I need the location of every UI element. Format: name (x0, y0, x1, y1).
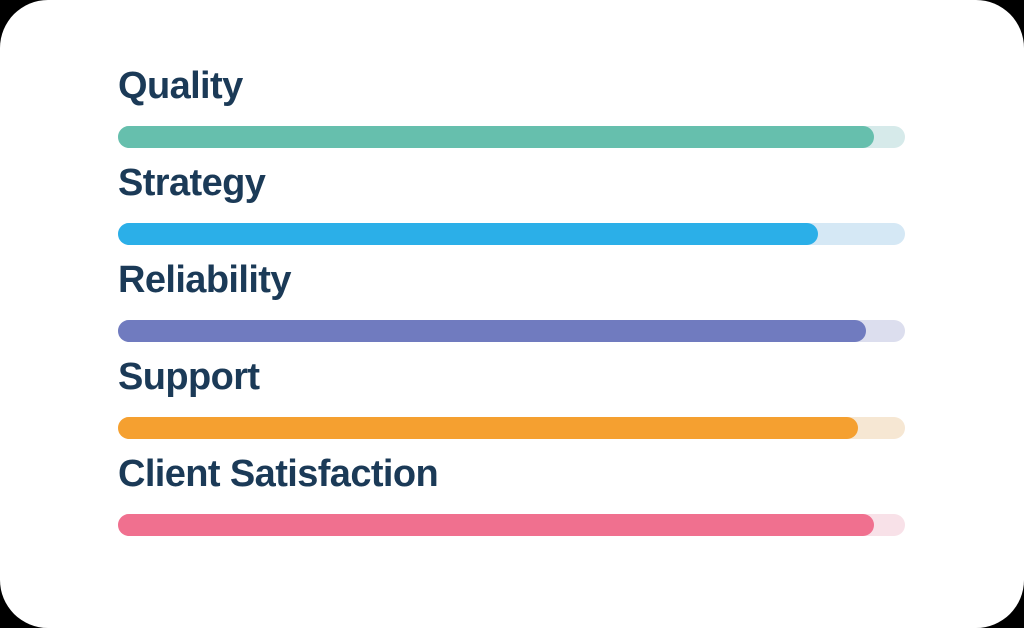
metric-row: Strategy (118, 157, 905, 254)
metric-progress-track (118, 320, 905, 342)
metric-progress-fill (118, 223, 818, 245)
metric-label: Client Satisfaction (118, 448, 438, 500)
infographic-card: QualityStrategyReliabilitySupportClient … (0, 0, 1024, 628)
metric-label: Reliability (118, 254, 291, 306)
metric-label: Strategy (118, 157, 265, 209)
metric-row: Quality (118, 60, 905, 157)
metric-progress-fill (118, 320, 866, 342)
metric-progress-fill (118, 126, 874, 148)
metric-progress-fill (118, 417, 858, 439)
metric-progress-track (118, 223, 905, 245)
metric-label: Quality (118, 60, 243, 112)
metric-progress-fill (118, 514, 874, 536)
metric-progress-track (118, 126, 905, 148)
metric-bar-list: QualityStrategyReliabilitySupportClient … (118, 60, 905, 545)
metric-row: Client Satisfaction (118, 448, 905, 545)
metric-progress-track (118, 417, 905, 439)
metric-progress-track (118, 514, 905, 536)
metric-row: Support (118, 351, 905, 448)
metric-label: Support (118, 351, 259, 403)
metric-row: Reliability (118, 254, 905, 351)
